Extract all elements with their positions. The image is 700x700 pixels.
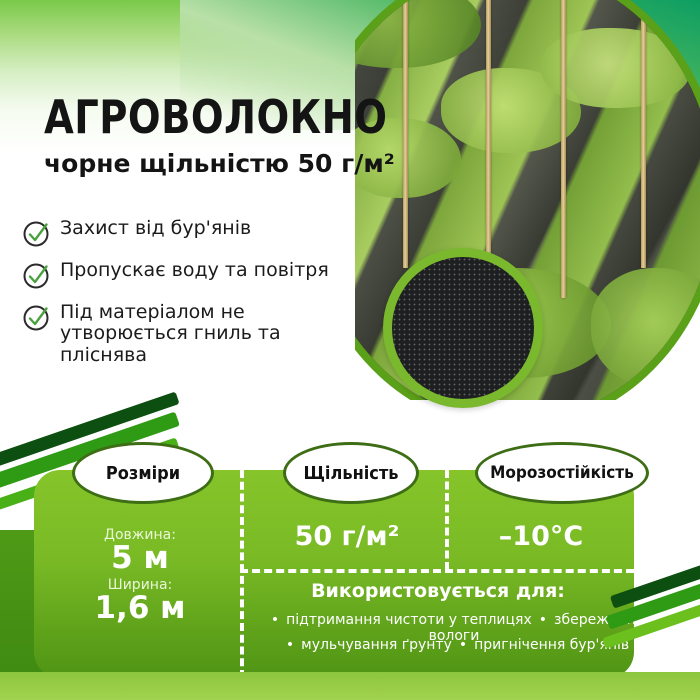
feature-label: Пропускає воду та повітря <box>60 260 329 281</box>
list-item: Під матеріалом не утворюється гниль та п… <box>22 302 352 366</box>
density-value: 50 г/м² <box>258 521 436 552</box>
check-circle-icon <box>22 261 52 291</box>
divider-vertical-right <box>445 470 449 570</box>
feature-label: Під матеріалом не утворюється гниль та п… <box>60 302 352 366</box>
feature-list: Захист від бур'янів Пропускає воду та по… <box>22 218 352 377</box>
check-circle-icon <box>22 219 52 249</box>
page-title: АГРОВОЛОКНО <box>44 94 387 140</box>
badge-frost-resistance: Морозостійкість <box>475 442 649 504</box>
badge-density-label: Щільність <box>303 463 398 484</box>
usage-row-2: •мульчування ґрунту•пригнічення бур'янів <box>244 637 664 653</box>
list-item: Захист від бур'янів <box>22 218 352 249</box>
list-item: Пропускає воду та повітря <box>22 260 352 291</box>
fabric-swatch-closeup <box>392 257 534 399</box>
badge-density: Щільність <box>283 442 419 504</box>
photo-bamboo-stake <box>641 0 646 268</box>
badge-dimensions: Розміри <box>72 442 214 504</box>
check-circle-icon <box>22 303 52 333</box>
length-value: 5 м <box>58 540 222 576</box>
usage-item: підтримання чистоти у теплицях <box>286 612 532 628</box>
badge-frost-label: Морозостійкість <box>490 463 634 483</box>
badge-dimensions-label: Розміри <box>106 463 180 484</box>
promo-banner: АГРОВОЛОКНО чорне щільністю 50 г/м² Захи… <box>0 0 700 700</box>
bullet-icon: • <box>279 637 301 653</box>
bullet-icon: • <box>532 612 554 628</box>
bullet-icon: • <box>264 612 286 628</box>
usage-title: Використовується для: <box>248 580 628 602</box>
width-value: 1,6 м <box>58 590 222 626</box>
feature-label: Захист від бур'янів <box>60 218 251 239</box>
photo-bamboo-stake <box>561 0 566 298</box>
bottom-band <box>0 672 700 700</box>
bullet-icon: • <box>452 637 474 653</box>
frost-value: –10°C <box>455 521 627 552</box>
photo-bamboo-stake <box>403 0 408 268</box>
usage-item: мульчування ґрунту <box>301 637 452 653</box>
page-subtitle: чорне щільністю 50 г/м² <box>44 150 395 178</box>
divider-horizontal <box>240 569 634 573</box>
